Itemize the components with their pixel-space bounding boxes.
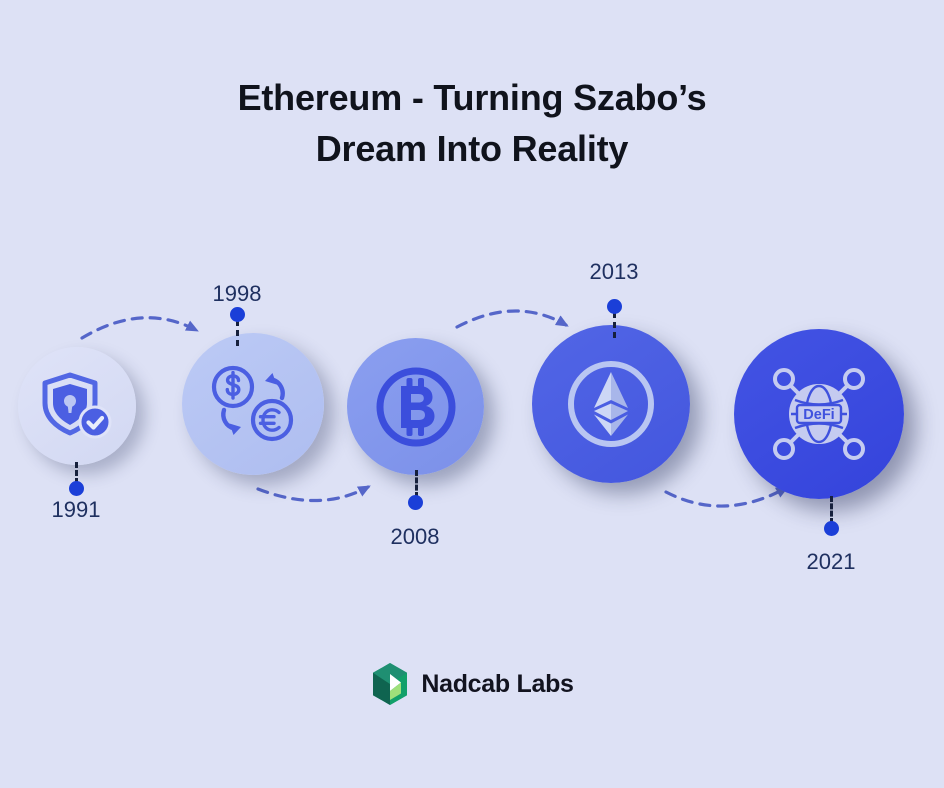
marker-dot <box>408 495 423 510</box>
marker-stem <box>613 312 616 338</box>
year-label-1998: 1998 <box>185 281 289 307</box>
milestone-circle-2013[interactable] <box>532 325 690 483</box>
marker-stem <box>830 496 833 524</box>
year-label-2021: 2021 <box>779 549 883 575</box>
milestone-circle-2008[interactable] <box>347 338 484 475</box>
marker-dot <box>69 481 84 496</box>
year-label-1991: 1991 <box>24 497 128 523</box>
year-label-2013: 2013 <box>562 259 666 285</box>
marker-dot <box>607 299 622 314</box>
ethereum-icon <box>563 356 659 452</box>
svg-text:DeFi: DeFi <box>803 407 834 423</box>
connector-arrow-4 <box>666 488 786 506</box>
marker-dot <box>824 521 839 536</box>
milestone-circle-1991[interactable] <box>18 347 136 465</box>
bitcoin-icon <box>373 364 459 450</box>
year-label-2008: 2008 <box>363 524 467 550</box>
marker-stem <box>415 470 418 498</box>
marker-stem <box>236 320 239 346</box>
connector-arrow-2 <box>258 487 368 501</box>
milestone-circle-1998[interactable] <box>182 333 324 475</box>
connector-arrow-1 <box>82 318 196 338</box>
nadcab-cube-logo <box>370 662 410 706</box>
defi-network-globe-icon: DeFi <box>767 362 871 466</box>
brand-name: Nadcab Labs <box>421 670 573 699</box>
currency-exchange-icon <box>210 364 296 444</box>
connector-arrow-3 <box>457 311 566 327</box>
milestone-circle-2021[interactable]: DeFi <box>734 329 904 499</box>
footer-brand[interactable]: Nadcab Labs <box>0 662 944 706</box>
marker-dot <box>230 307 245 322</box>
shield-check-lock-icon <box>40 371 114 441</box>
